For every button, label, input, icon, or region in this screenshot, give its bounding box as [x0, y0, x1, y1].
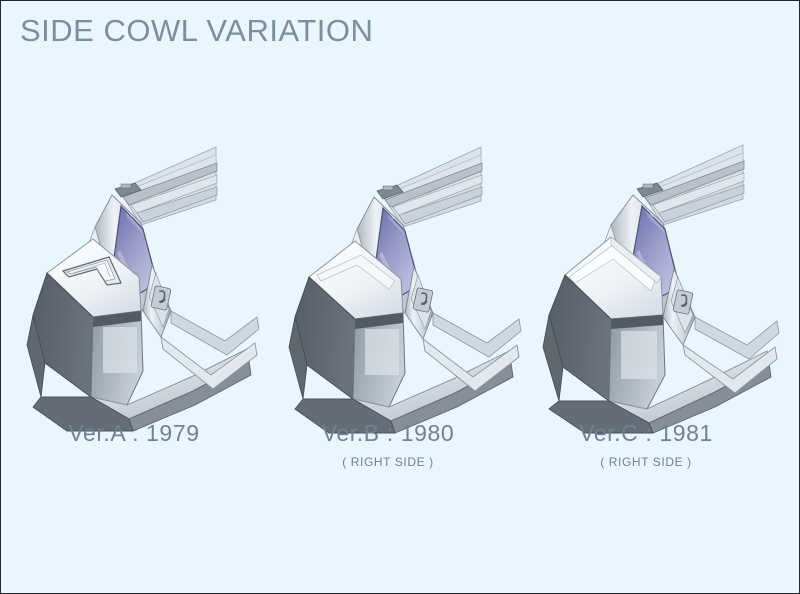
caption-ver-a: Ver.A : 1979 — [19, 421, 249, 446]
caption-ver-b: Ver.B : 1980 ( RIGHT SIDE ) — [273, 421, 503, 469]
figure-ver-c — [525, 105, 791, 435]
figure-ver-a — [11, 105, 277, 435]
figure-ver-b — [269, 105, 535, 435]
cowl-render-ver-b — [269, 105, 535, 435]
caption-sublabel-ver-c: ( RIGHT SIDE ) — [531, 455, 761, 469]
caption-label-ver-c: Ver.C : 1981 — [531, 421, 761, 446]
figure-row — [1, 105, 800, 445]
page-title: SIDE COWL VARIATION — [20, 13, 373, 49]
page-root: SIDE COWL VARIATION — [0, 0, 800, 594]
caption-label-ver-a: Ver.A : 1979 — [19, 421, 249, 446]
caption-sublabel-ver-b: ( RIGHT SIDE ) — [273, 455, 503, 469]
cowl-render-ver-c — [525, 105, 791, 435]
caption-ver-c: Ver.C : 1981 ( RIGHT SIDE ) — [531, 421, 761, 469]
caption-label-ver-b: Ver.B : 1980 — [273, 421, 503, 446]
cowl-render-ver-a — [11, 105, 277, 435]
